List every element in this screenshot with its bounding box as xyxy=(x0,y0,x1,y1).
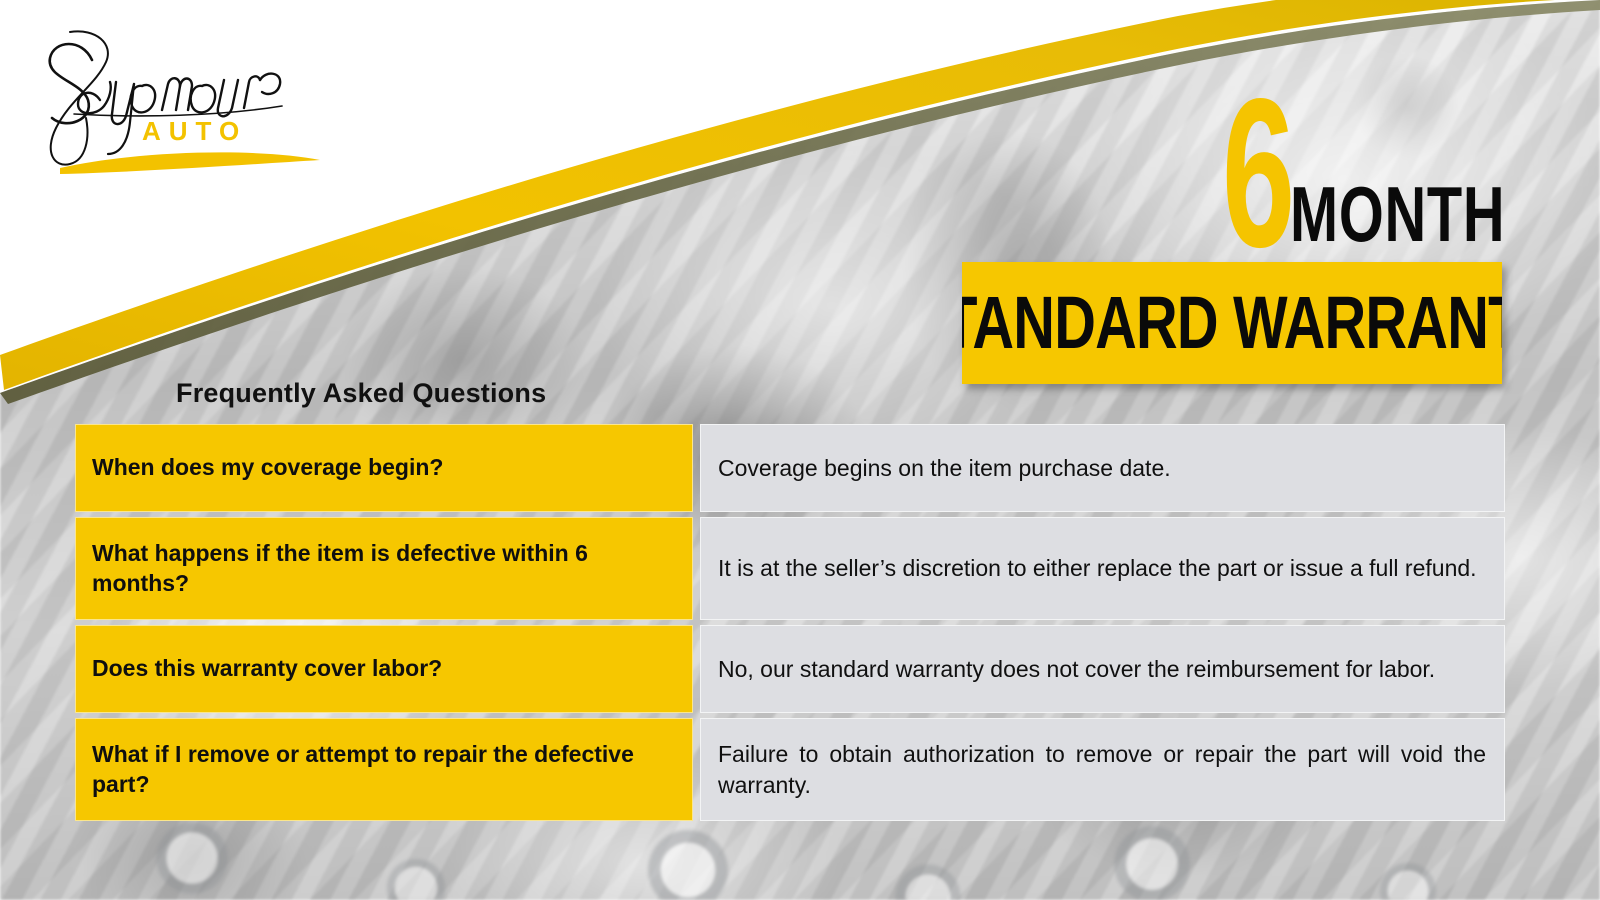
faq-answer-cell: No, our standard warranty does not cover… xyxy=(700,625,1505,713)
faq-answer-cell: Failure to obtain authorization to remov… xyxy=(700,718,1505,821)
faq-question-cell: When does my coverage begin? xyxy=(75,424,693,512)
warranty-term-headline: 6 MONTH xyxy=(1210,78,1510,258)
table-row: What happens if the item is defective wi… xyxy=(75,517,1505,620)
svg-text:AUTO: AUTO xyxy=(142,116,247,146)
faq-table: When does my coverage begin? Coverage be… xyxy=(75,424,1505,821)
faq-question-cell: What if I remove or attempt to repair th… xyxy=(75,718,693,821)
faq-answer-text: It is at the seller’s discretion to eith… xyxy=(718,553,1486,583)
faq-question-text: When does my coverage begin? xyxy=(92,453,443,483)
standard-warranty-label: STANDARD WARRANTY xyxy=(962,286,1502,360)
seymour-auto-logo: AUTO xyxy=(30,22,330,182)
table-row: What if I remove or attempt to repair th… xyxy=(75,718,1505,821)
faq-question-cell: Does this warranty cover labor? xyxy=(75,625,693,713)
faq-question-text: What if I remove or attempt to repair th… xyxy=(92,740,674,800)
faq-answer-cell: Coverage begins on the item purchase dat… xyxy=(700,424,1505,512)
standard-warranty-banner: STANDARD WARRANTY xyxy=(962,262,1502,384)
warranty-months-unit: MONTH xyxy=(1290,181,1505,248)
faq-answer-text: Failure to obtain authorization to remov… xyxy=(718,739,1486,800)
warranty-months-number: 6 xyxy=(1222,88,1293,258)
faq-answer-text: No, our standard warranty does not cover… xyxy=(718,654,1486,684)
faq-answer-cell: It is at the seller’s discretion to eith… xyxy=(700,517,1505,620)
faq-question-text: Does this warranty cover labor? xyxy=(92,654,442,684)
faq-answer-text: Coverage begins on the item purchase dat… xyxy=(718,453,1486,483)
faq-heading: Frequently Asked Questions xyxy=(176,378,546,409)
table-row: When does my coverage begin? Coverage be… xyxy=(75,424,1505,512)
warranty-slide: AUTO 6 MONTH STANDARD WARRANTY Frequentl… xyxy=(0,0,1600,900)
table-row: Does this warranty cover labor? No, our … xyxy=(75,625,1505,713)
faq-question-cell: What happens if the item is defective wi… xyxy=(75,517,693,620)
faq-question-text: What happens if the item is defective wi… xyxy=(92,539,674,599)
